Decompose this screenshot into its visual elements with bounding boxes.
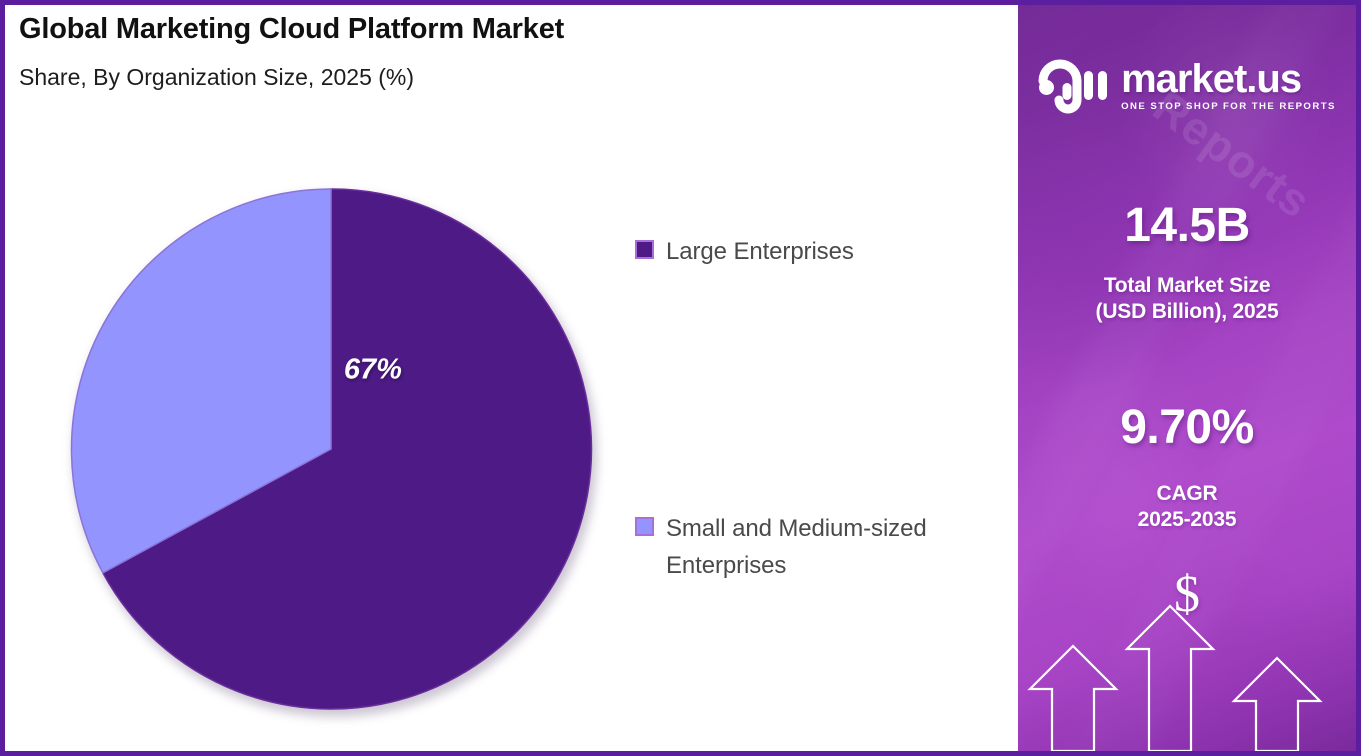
stats-panel: Reports market.us ONE STOP SHOP FOR THE … [1018, 5, 1356, 751]
logo-tagline: ONE STOP SHOP FOR THE REPORTS [1121, 101, 1336, 112]
logo-text-block: market.us ONE STOP SHOP FOR THE REPORTS [1121, 60, 1336, 112]
legend-item-label: Small and Medium-sized Enterprises [666, 510, 995, 584]
brand-logo[interactable]: market.us ONE STOP SHOP FOR THE REPORTS [1018, 57, 1356, 115]
stat-value: 9.70% [1018, 403, 1356, 453]
pie-chart: 67% [69, 187, 593, 711]
legend-item-smb-enterprises[interactable]: Small and Medium-sized Enterprises [635, 510, 995, 584]
growth-arrow-left [1030, 646, 1116, 751]
legend-swatch-icon [635, 517, 654, 536]
market-us-logo-icon [1038, 57, 1108, 115]
legend-item-label: Large Enterprises [666, 233, 854, 270]
legend-item-large-enterprises[interactable]: Large Enterprises [635, 233, 995, 270]
stat-caption-line-1: Total Market Size [1018, 273, 1356, 299]
stat-cagr: 9.70% CAGR 2025-2035 [1018, 403, 1356, 533]
chart-area: Global Marketing Cloud Platform Market S… [5, 5, 1018, 751]
pie-svg [69, 187, 593, 711]
legend-swatch-icon [635, 240, 654, 259]
logo-wordmark: market.us [1121, 60, 1301, 99]
page-title: Global Marketing Cloud Platform Market [19, 13, 564, 46]
stat-caption-line-2: (USD Billion), 2025 [1018, 299, 1356, 325]
stat-value: 14.5B [1018, 201, 1356, 251]
stat-caption-line-1: CAGR [1018, 481, 1356, 507]
chart-subtitle: Share, By Organization Size, 2025 (%) [19, 64, 414, 91]
stat-total-market-size: 14.5B Total Market Size (USD Billion), 2… [1018, 201, 1356, 325]
growth-arrow-right [1234, 658, 1320, 751]
stat-caption: Total Market Size (USD Billion), 2025 [1018, 273, 1356, 324]
growth-arrow-center [1127, 606, 1213, 751]
growth-arrows-graphic: $ [1018, 561, 1356, 751]
growth-arrows-svg [1018, 561, 1356, 751]
stat-caption-line-2: 2025-2035 [1018, 507, 1356, 533]
infographic-root: Global Marketing Cloud Platform Market S… [0, 0, 1361, 756]
stat-caption: CAGR 2025-2035 [1018, 481, 1356, 532]
